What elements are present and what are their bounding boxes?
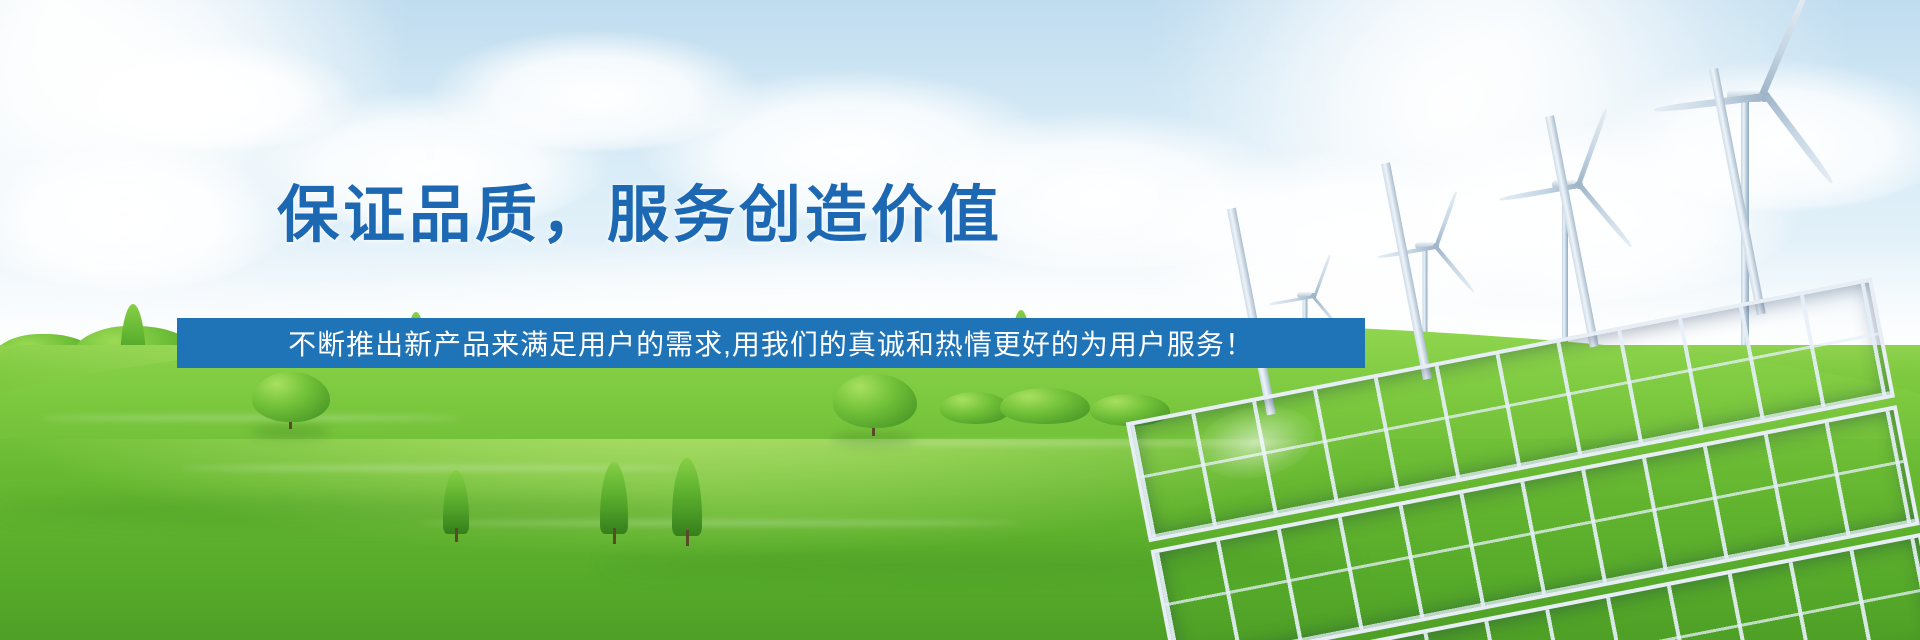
turbine-blade: [1577, 182, 1634, 248]
tree-trunk: [686, 530, 689, 546]
tree-shape: [833, 374, 917, 428]
grass-shadow: [0, 495, 700, 525]
turbine-blade: [1576, 108, 1609, 187]
turbine-blade: [1434, 191, 1458, 249]
turbine-blade: [1759, 0, 1809, 97]
hero-banner: 保证品质，服务创造价值 不断推出新产品来满足用户的需求,用我们的真诚和热情更好的…: [0, 0, 1920, 640]
tree-shape: [1000, 388, 1090, 424]
tree-trunk: [455, 528, 458, 542]
page-title: 保证品质，服务创造价值: [0, 164, 1280, 254]
turbine-blade: [1762, 91, 1835, 185]
grass-highlight: [40, 415, 460, 421]
tree-shape: [252, 372, 330, 422]
grass-highlight: [180, 465, 700, 471]
subtitle-text: 不断推出新产品来满足用户的需求,用我们的真诚和热情更好的为用户服务！: [288, 323, 1254, 363]
tree-trunk: [613, 528, 616, 544]
subtitle-bar: 不断推出新产品来满足用户的需求,用我们的真诚和热情更好的为用户服务！: [177, 318, 1365, 368]
